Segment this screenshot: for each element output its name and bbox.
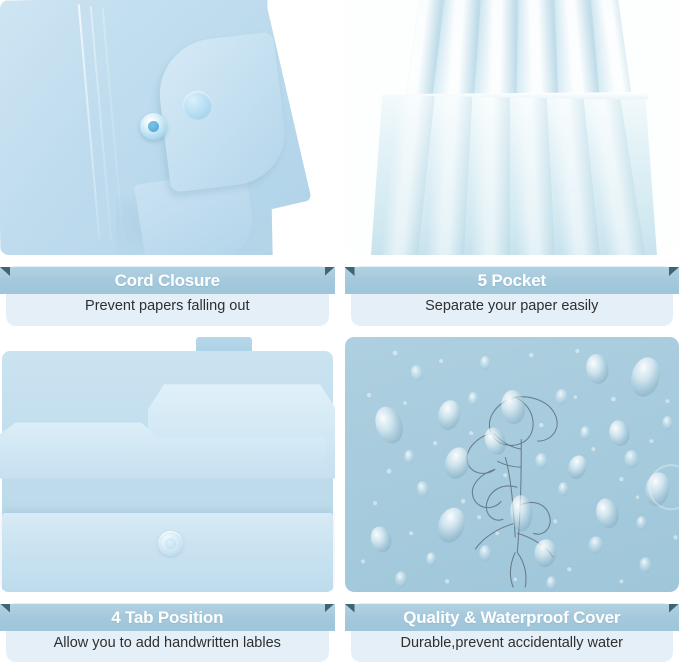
feature-title: Cord Closure — [115, 272, 220, 289]
feature-subtitle: Durable,prevent accidentally water — [353, 633, 672, 653]
ribbon-fold-left-icon — [0, 604, 10, 613]
feature-cell-cord-closure: Cord Closure Prevent papers falling out — [0, 0, 335, 326]
feature-title-ribbon: Cord Closure — [0, 267, 335, 294]
feature-title: 5 Pocket — [478, 272, 546, 289]
feature-image-five-pocket — [345, 0, 679, 255]
ribbon-fold-right-icon — [669, 604, 679, 613]
feature-grid: Cord Closure Prevent papers falling out — [0, 0, 679, 662]
feature-subtitle: Prevent papers falling out — [8, 296, 327, 316]
feature-image-cord-closure — [0, 0, 335, 255]
feature-image-four-tab-position — [0, 337, 335, 592]
feature-caption: 5 Pocket Separate your paper easily — [345, 260, 679, 326]
feature-caption: 4 Tab Position Allow you to add handwrit… — [0, 597, 335, 662]
feature-title-ribbon: Quality & Waterproof Cover — [345, 604, 679, 631]
product-feature-infographic: Cord Closure Prevent papers falling out — [0, 0, 679, 662]
feature-cell-four-tab-position: 4 Tab Position Allow you to add handwrit… — [0, 337, 335, 662]
feature-title-ribbon: 4 Tab Position — [0, 604, 335, 631]
feature-subtitle: Separate your paper easily — [353, 296, 672, 316]
file-tabs-icon — [0, 337, 335, 592]
feature-card[interactable]: Cord Closure Prevent papers falling out — [0, 0, 335, 326]
feature-title-ribbon: 5 Pocket — [345, 267, 679, 294]
feature-title: Quality & Waterproof Cover — [403, 609, 620, 626]
ribbon-fold-right-icon — [669, 267, 679, 276]
feature-caption: Quality & Waterproof Cover Durable,preve… — [345, 597, 679, 662]
feature-title: 4 Tab Position — [111, 609, 223, 626]
ribbon-fold-left-icon — [345, 604, 355, 613]
feature-card[interactable]: Quality & Waterproof Cover Durable,preve… — [345, 337, 679, 662]
feature-caption: Cord Closure Prevent papers falling out — [0, 260, 335, 326]
feature-card[interactable]: 5 Pocket Separate your paper easily — [345, 0, 679, 326]
accordion-pockets-icon — [345, 0, 679, 255]
ribbon-fold-left-icon — [345, 267, 355, 276]
feature-image-waterproof-cover — [345, 337, 679, 592]
feature-cell-waterproof-cover: Quality & Waterproof Cover Durable,preve… — [345, 337, 679, 662]
droplets-and-floral-artwork — [345, 337, 679, 592]
water-droplet-icon — [345, 337, 679, 592]
feature-subtitle: Allow you to add handwritten lables — [8, 633, 327, 653]
ribbon-fold-left-icon — [0, 267, 10, 276]
feature-card[interactable]: 4 Tab Position Allow you to add handwrit… — [0, 337, 335, 662]
ribbon-fold-right-icon — [325, 267, 335, 276]
ribbon-fold-right-icon — [325, 604, 335, 613]
feature-cell-five-pocket: 5 Pocket Separate your paper easily — [345, 0, 679, 326]
button-closure-icon — [0, 0, 335, 255]
